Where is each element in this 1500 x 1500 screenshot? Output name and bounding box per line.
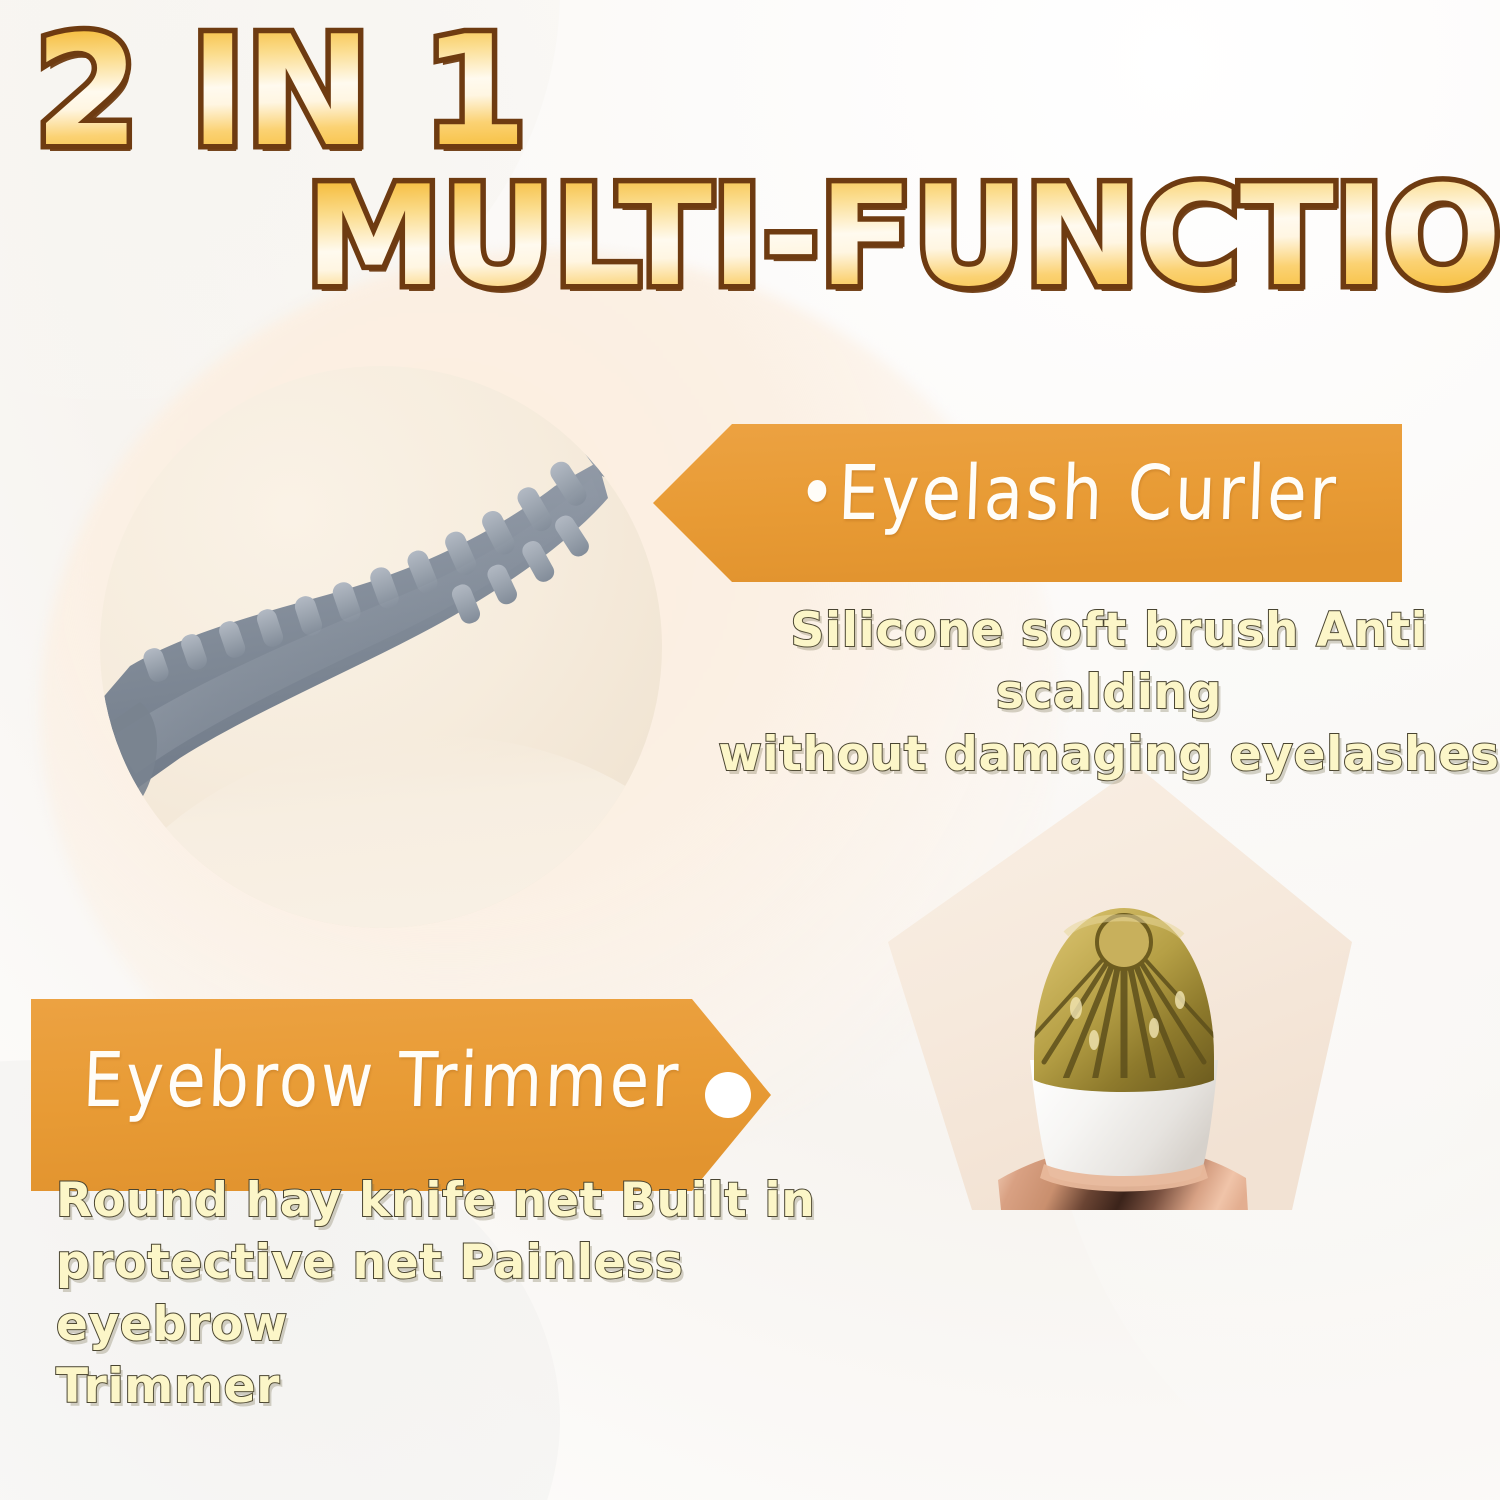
trimmer-head-photo [880,760,1360,1285]
trimmer-head-illustration [880,760,1360,1285]
banner-label-eyebrow-trimmer: Eyebrow Trimmer [81,1037,682,1124]
banner-bullet: • [796,450,839,537]
silicone-brush-photo [100,366,662,928]
feature-banner-eyelash-curler: •Eyelash Curler [650,421,1404,585]
headline-line-1-text: 2 IN 1 [34,16,526,168]
banner-label-eyelash-curler: •Eyelash Curler [796,450,1339,537]
banner-text: Eyelash Curler [837,450,1340,537]
feature-banner-eyebrow-trimmer: Eyebrow Trimmer [28,996,774,1194]
silicone-brush-illustration [100,366,662,928]
banner-bullet-dot [705,1072,751,1118]
brush-tail [100,702,157,846]
dome-center-rosette [1097,915,1151,969]
feature-description-eyebrow: Round hay knife net Built in protective … [56,1170,846,1418]
headline-line-1: 2 IN 1 2 IN 1 [34,16,526,168]
product-feature-graphic: 2 IN 1 2 IN 1 MULTI-FUNCTION MULTI-FUNCT… [0,0,1500,1500]
headline-line-2-text: MULTI-FUNCTION [305,168,1500,306]
feature-description-eyelash: Silicone soft brush Anti scalding withou… [714,600,1500,786]
headline-line-2: MULTI-FUNCTION MULTI-FUNCTION [305,168,1500,306]
